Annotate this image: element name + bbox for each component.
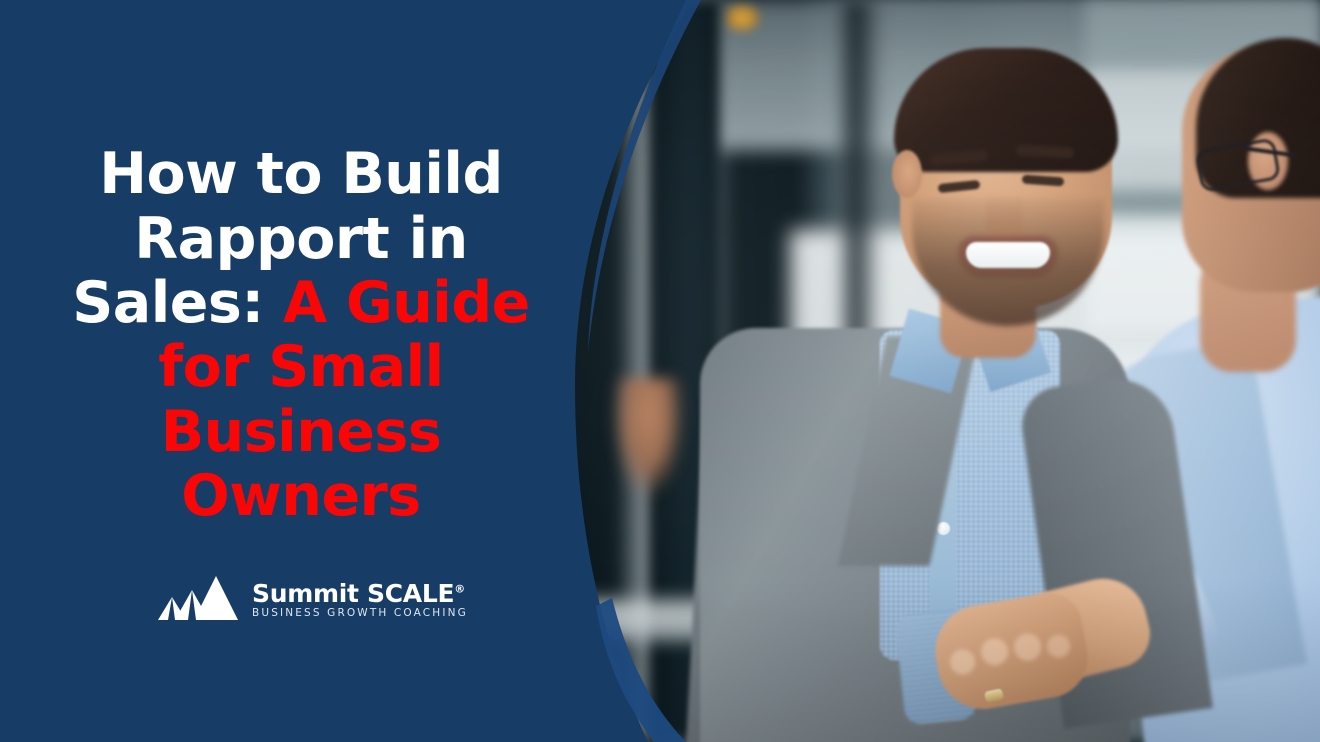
- summit-mountains-icon: [142, 568, 238, 620]
- background-person: [612, 378, 684, 498]
- ceiling-lamp: [722, 6, 762, 30]
- headline-line-4-accent: for Small: [158, 334, 443, 400]
- page-title: How to Build Rapport in Sales: A Guide f…: [36, 142, 566, 528]
- blog-title-card: How to Build Rapport in Sales: A Guide f…: [0, 0, 1320, 742]
- headline-line-3-white: Sales:: [72, 270, 263, 336]
- logo-text-block: Summit SCALE® BUSINESS GROWTH COACHING: [252, 581, 468, 621]
- teeth: [966, 242, 1050, 268]
- brand-word-summit: Summit: [252, 579, 359, 608]
- brand-name: Summit SCALE®: [252, 581, 468, 606]
- headline-line-5-accent: Business: [161, 399, 442, 465]
- brand-logo[interactable]: Summit SCALE® BUSINESS GROWTH COACHING: [142, 568, 468, 620]
- brand-tagline: BUSINESS GROWTH COACHING: [252, 608, 468, 619]
- registered-trademark-icon: ®: [454, 582, 465, 595]
- brand-word-scale: SCALE: [367, 579, 454, 608]
- businessman-front-ear: [892, 150, 922, 198]
- headline-line-3-accent: A Guide: [283, 270, 530, 336]
- headline-line-1: How to Build: [99, 141, 503, 207]
- shirt-button: [937, 522, 950, 535]
- headline-line-6-accent: Owners: [181, 463, 420, 529]
- headline-line-2: Rapport in: [134, 206, 467, 272]
